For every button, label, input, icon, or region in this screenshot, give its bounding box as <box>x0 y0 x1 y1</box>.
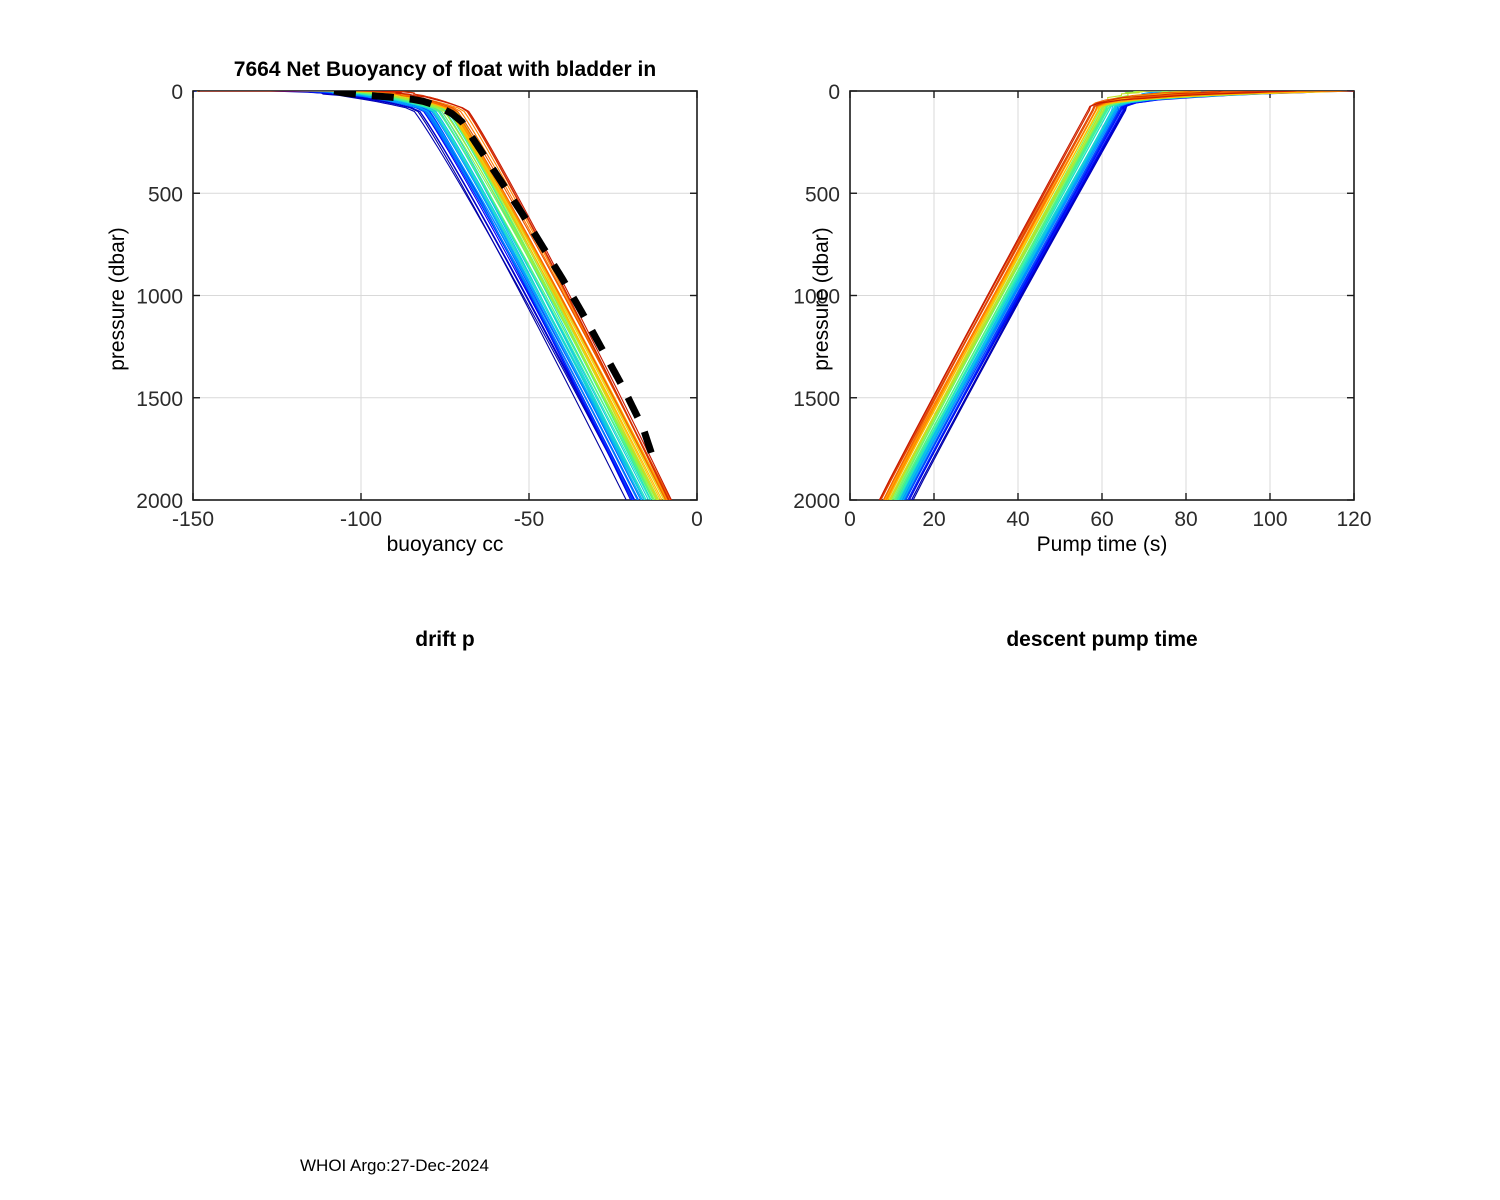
y-tick-label: 0 <box>171 81 183 104</box>
x-tick-label: -50 <box>514 508 544 531</box>
y-tick-label: 1000 <box>136 286 183 309</box>
buoyancy-xlabel: buoyancy cc <box>193 533 697 557</box>
driftp-title: drift p <box>193 628 697 652</box>
pumptime-plot-svg: 0204060801001200500100015002000 <box>750 0 1500 600</box>
y-tick-label: 1500 <box>136 388 183 411</box>
x-tick-label: 20 <box>922 508 945 531</box>
x-tick-label: 60 <box>1090 508 1113 531</box>
x-tick-label: -100 <box>340 508 382 531</box>
pumptime-xlabel: Pump time (s) <box>850 533 1354 557</box>
panel-descentpump: descent pump time 0204060801001203434.53… <box>750 600 1500 1200</box>
buoyancy-title: 7664 Net Buoyancy of float with bladder … <box>193 58 697 82</box>
y-tick-label: 2000 <box>136 490 183 513</box>
x-tick-label: 100 <box>1252 508 1287 531</box>
figure-canvas: 7664 Net Buoyancy of float with bladder … <box>0 0 1500 1200</box>
panel-driftp: drift p 02040608010012098098599099510001… <box>0 600 750 1200</box>
x-tick-label: 80 <box>1174 508 1197 531</box>
driftp-plot-svg: 0204060801001209809859909951000100510101… <box>0 600 750 1200</box>
y-tick-label: 0 <box>828 81 840 104</box>
footer-credit: WHOI Argo:27-Dec-2024 <box>300 1156 489 1176</box>
y-tick-label: 500 <box>148 183 183 206</box>
panel-buoyancy: 7664 Net Buoyancy of float with bladder … <box>0 0 750 600</box>
descentpump-plot-svg: 0204060801001203434.53535.53636.53737.5 <box>750 600 1500 1200</box>
x-tick-label: 0 <box>691 508 703 531</box>
descentpump-title: descent pump time <box>850 628 1354 652</box>
x-tick-label: 40 <box>1006 508 1029 531</box>
y-tick-label: 2000 <box>793 490 840 513</box>
x-tick-label: 120 <box>1336 508 1371 531</box>
panel-pumptime: pressure (dbar) Pump time (s) 0204060801… <box>750 0 1500 600</box>
x-tick-label: 0 <box>844 508 856 531</box>
pumptime-ylabel: pressure (dbar) <box>810 169 834 429</box>
buoyancy-ylabel: pressure (dbar) <box>106 169 130 429</box>
